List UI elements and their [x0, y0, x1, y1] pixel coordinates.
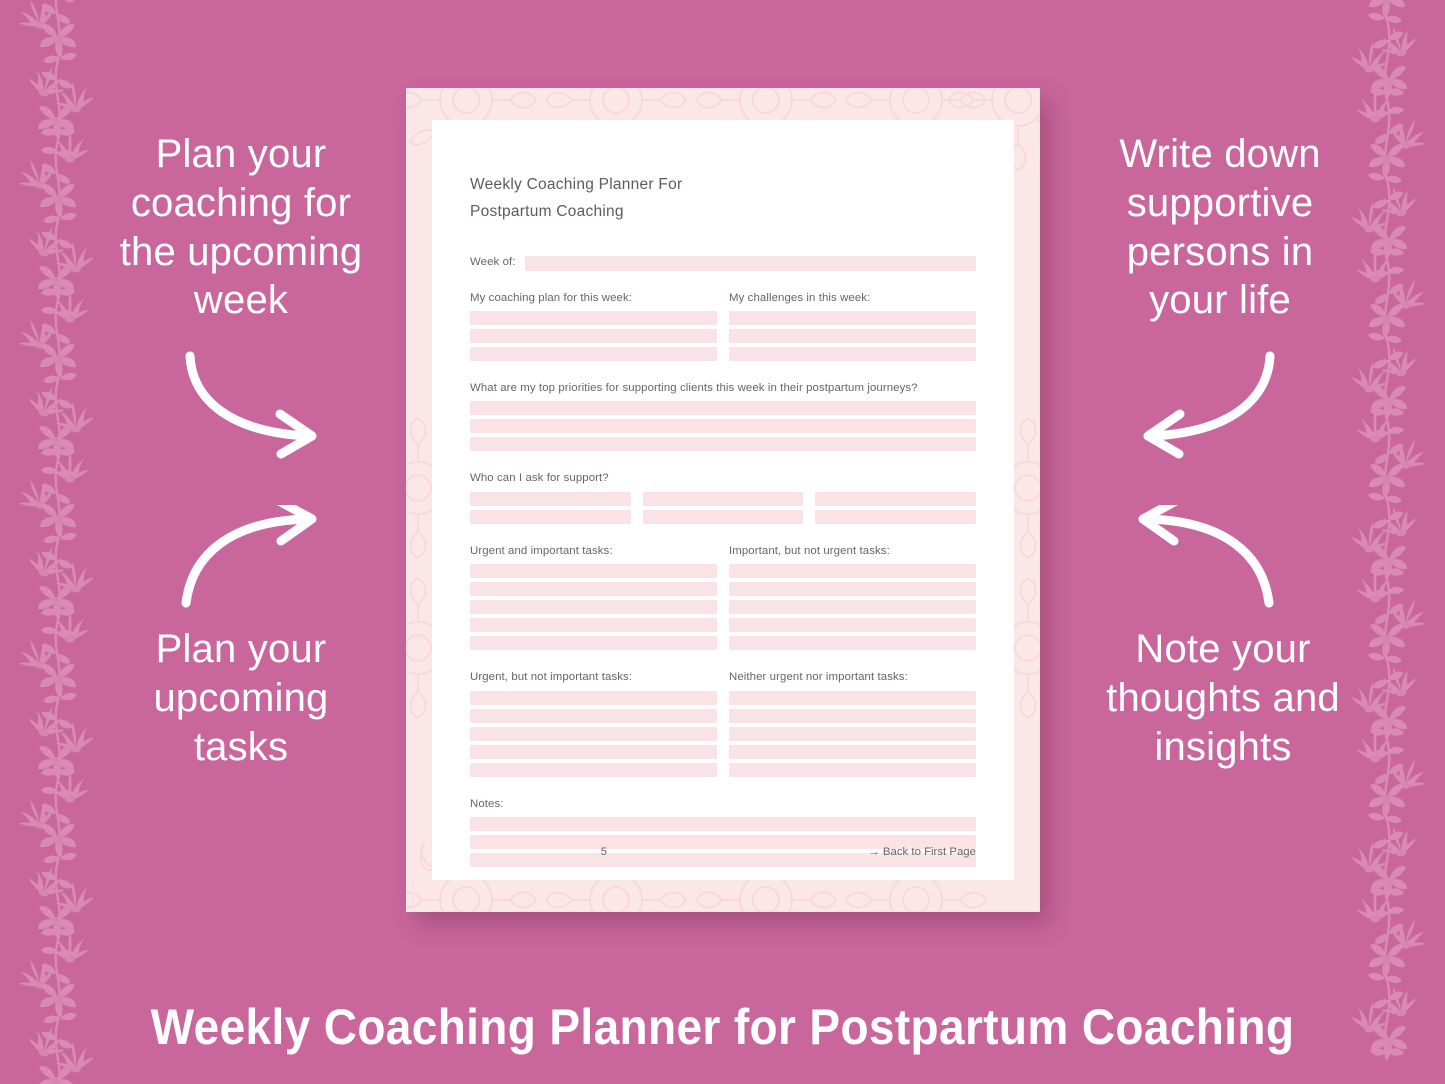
back-to-first-page-link[interactable]: → Back to First Page: [868, 846, 976, 858]
important-not-urgent-label: Important, but not urgent tasks:: [729, 544, 976, 559]
page-footer: 5 → Back to First Page: [470, 846, 976, 858]
annotation-bottom-left: Plan your upcoming tasks: [110, 625, 372, 771]
urgent-important-input[interactable]: [470, 618, 717, 632]
important-not-urgent-input[interactable]: [729, 582, 976, 596]
support-column: [643, 492, 804, 524]
neither-input[interactable]: [729, 727, 976, 741]
annotation-bottom-right: Note your thoughts and insights: [1089, 625, 1357, 771]
challenges-lines: [729, 311, 976, 361]
important-not-urgent-input[interactable]: [729, 636, 976, 650]
page-title-line1: Weekly Coaching Planner For: [470, 172, 976, 199]
urgent-important-input[interactable]: [470, 564, 717, 578]
support-column: [470, 492, 631, 524]
support-label: Who can I ask for support?: [470, 471, 976, 486]
priorities-input[interactable]: [470, 401, 976, 415]
support-columns: [470, 492, 976, 524]
urgent-important-input[interactable]: [470, 636, 717, 650]
page-title-line2: Postpartum Coaching: [470, 199, 976, 226]
neither-group: Neither urgent nor important tasks:: [729, 670, 976, 776]
important-not-urgent-input[interactable]: [729, 564, 976, 578]
floral-border-left: [0, 0, 118, 1084]
urgent-not-important-input[interactable]: [470, 727, 717, 741]
planner-card: Weekly Coaching Planner For Postpartum C…: [406, 88, 1040, 912]
page-title: Weekly Coaching Planner For Postpartum C…: [470, 172, 976, 225]
challenges-input[interactable]: [729, 347, 976, 361]
support-column: [815, 492, 976, 524]
neither-input[interactable]: [729, 691, 976, 705]
important-not-urgent-lines: [729, 564, 976, 650]
neither-lines: [729, 691, 976, 777]
urgent-not-important-input[interactable]: [470, 709, 717, 723]
urgent-not-important-group: Urgent, but not important tasks:: [470, 670, 717, 776]
plan-challenges-section: My coaching plan for this week: My chall…: [470, 291, 976, 361]
priorities-input[interactable]: [470, 437, 976, 451]
coaching-plan-lines: [470, 311, 717, 361]
support-input[interactable]: [815, 492, 976, 506]
arrow-down-left-icon: [1110, 350, 1280, 460]
notes-label: Notes:: [470, 797, 976, 812]
urgent-not-important-lines: [470, 691, 717, 777]
important-not-urgent-input[interactable]: [729, 600, 976, 614]
task-quadrant-row-1: Urgent and important tasks: Important, b…: [470, 544, 976, 650]
coaching-plan-input[interactable]: [470, 347, 717, 361]
priorities-label: What are my top priorities for supportin…: [470, 381, 976, 396]
support-input[interactable]: [470, 492, 631, 506]
priorities-input[interactable]: [470, 419, 976, 433]
banner-title: Weekly Coaching Planner for Postpartum C…: [58, 998, 1387, 1056]
neither-label: Neither urgent nor important tasks:: [729, 670, 976, 685]
priorities-lines: [470, 401, 976, 451]
support-input[interactable]: [643, 510, 804, 524]
support-input[interactable]: [470, 510, 631, 524]
week-of-label: Week of:: [470, 255, 516, 270]
urgent-not-important-input[interactable]: [470, 691, 717, 705]
coaching-plan-input[interactable]: [470, 311, 717, 325]
support-input[interactable]: [643, 492, 804, 506]
arrow-down-right-icon: [180, 350, 350, 460]
task-quadrant-row-2: Urgent, but not important tasks: Neither…: [470, 670, 976, 776]
page-number: 5: [601, 846, 607, 858]
annotation-top-right: Write down supportive persons in your li…: [1095, 130, 1345, 325]
neither-input[interactable]: [729, 763, 976, 777]
urgent-important-lines: [470, 564, 717, 650]
notes-input[interactable]: [470, 817, 976, 831]
annotation-top-left: Plan your coaching for the upcoming week: [110, 130, 372, 325]
urgent-important-input[interactable]: [470, 582, 717, 596]
urgent-not-important-input[interactable]: [470, 763, 717, 777]
urgent-not-important-input[interactable]: [470, 745, 717, 759]
arrow-up-left-icon: [1107, 505, 1277, 610]
coaching-plan-input[interactable]: [470, 329, 717, 343]
urgent-important-group: Urgent and important tasks:: [470, 544, 717, 650]
neither-input[interactable]: [729, 709, 976, 723]
challenges-label: My challenges in this week:: [729, 291, 976, 306]
arrow-up-right-icon: [178, 505, 348, 610]
urgent-not-important-label: Urgent, but not important tasks:: [470, 670, 717, 685]
planner-page: Weekly Coaching Planner For Postpartum C…: [432, 120, 1014, 880]
important-not-urgent-input[interactable]: [729, 618, 976, 632]
coaching-plan-group: My coaching plan for this week:: [470, 291, 717, 361]
urgent-important-input[interactable]: [470, 600, 717, 614]
support-input[interactable]: [815, 510, 976, 524]
challenges-input[interactable]: [729, 311, 976, 325]
notes-lines: [470, 817, 976, 867]
support-section: Who can I ask for support?: [470, 471, 976, 523]
challenges-input[interactable]: [729, 329, 976, 343]
important-not-urgent-group: Important, but not urgent tasks:: [729, 544, 976, 650]
week-of-row: Week of:: [470, 255, 976, 270]
priorities-section: What are my top priorities for supportin…: [470, 381, 976, 451]
urgent-important-label: Urgent and important tasks:: [470, 544, 717, 559]
week-of-input[interactable]: [525, 256, 976, 271]
coaching-plan-label: My coaching plan for this week:: [470, 291, 717, 306]
challenges-group: My challenges in this week:: [729, 291, 976, 361]
neither-input[interactable]: [729, 745, 976, 759]
